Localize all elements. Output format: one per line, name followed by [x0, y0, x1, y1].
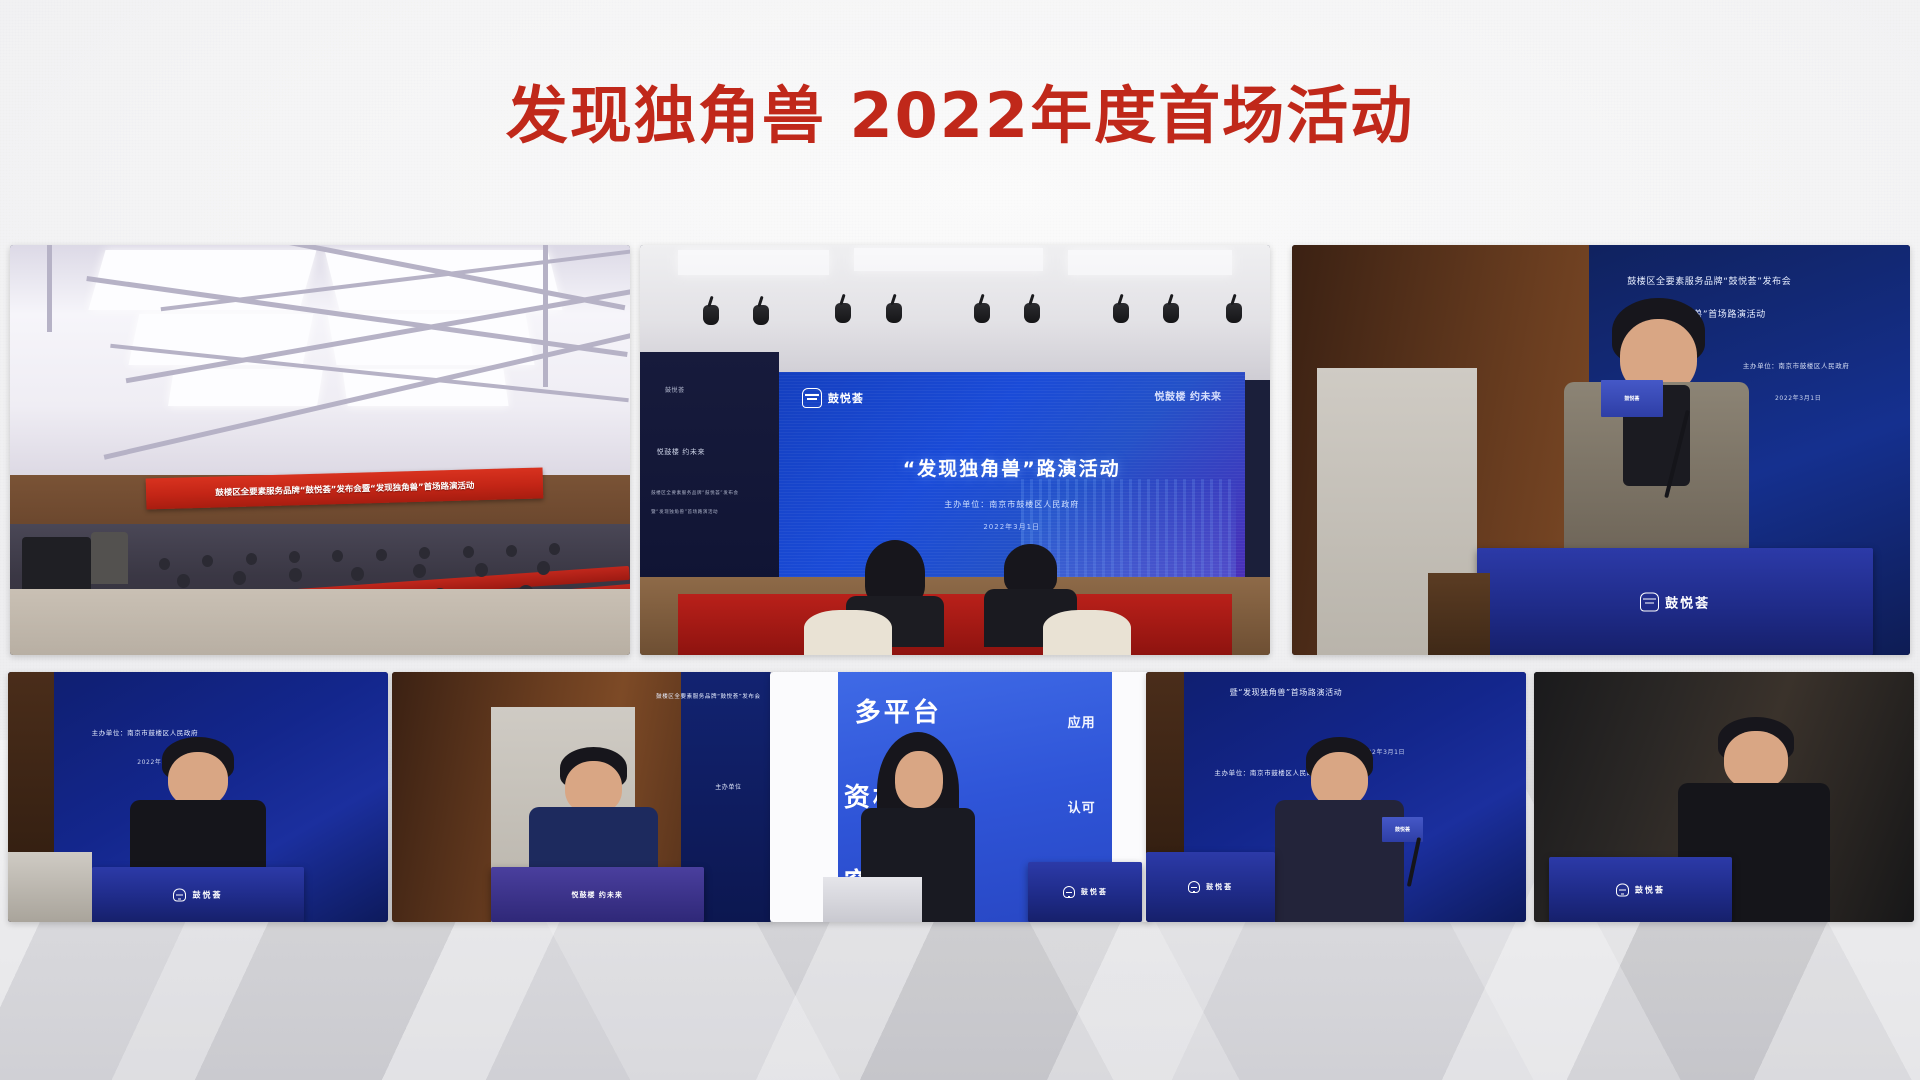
podium-label: 鼓悦荟: [1028, 886, 1142, 898]
podium: 鼓悦荟: [1028, 862, 1142, 922]
guyuehui-logo-icon: [1640, 592, 1659, 611]
podium-label: 鼓悦荟: [1549, 883, 1731, 896]
mic-flag-logo: 鼓悦荟: [1601, 380, 1663, 417]
podium-brand-name: 鼓悦荟: [192, 889, 222, 900]
photo-stage-led-screen[interactable]: 鼓悦荟 悦鼓楼 约未来 鼓楼区全要素服务品牌“鼓悦荟”发布会 暨“发现独角兽”首…: [640, 245, 1270, 655]
guyuehui-logo-icon: [1616, 883, 1629, 896]
backdrop-date: 2022年3月1日: [1775, 393, 1821, 402]
backdrop-organizer: 主办单位：南京市鼓楼区人民政府: [1743, 360, 1850, 370]
poster-page: 发现独角兽 2022年度首场活动: [0, 0, 1920, 1080]
guyuehui-logo-icon: [802, 388, 822, 408]
slide-line-2b: 认可: [1068, 797, 1096, 816]
led-slogan: 悦鼓楼 约未来: [1155, 388, 1222, 403]
backdrop-organizer: 主办单位：南京市鼓楼区人民政府: [92, 727, 199, 737]
led-brand-name: 鼓悦荟: [828, 390, 864, 406]
guyuehui-logo-icon: [1063, 886, 1075, 898]
podium-brand-name: 鼓悦荟: [1206, 882, 1233, 892]
led-brand-logo: 鼓悦荟: [802, 388, 864, 408]
led-event-title: “发现独角兽”路演活动: [779, 454, 1245, 481]
slide-line-1b: 应用: [1068, 712, 1096, 731]
stage-side-panel: 鼓悦荟 悦鼓楼 约未来 鼓楼区全要素服务品牌“鼓悦荟”发布会 暨“发现独角兽”首…: [640, 352, 779, 590]
podium: 鼓悦荟: [1146, 852, 1275, 922]
backdrop-line-1: 暨“发现独角兽”首场路演活动: [1230, 687, 1343, 698]
hall-banner-text: 鼓楼区全要素服务品牌“鼓悦荟”发布会暨“发现独角兽”首场路演活动: [215, 478, 474, 497]
stage-red-desk: [678, 594, 1232, 656]
guyuehui-logo-icon: [1188, 881, 1200, 893]
photo-speaker-4[interactable]: 暨“发现独角兽”首场路演活动 主办单位：南京市鼓楼区人民政府 2022年3月1日…: [1146, 672, 1526, 922]
photo-speaker-2[interactable]: 鼓楼区全要素服务品牌“鼓悦荟”发布会 主办单位 悦鼓楼 约未来: [392, 672, 772, 922]
podium-label: 鼓悦荟: [92, 888, 305, 901]
backdrop-line-1: 鼓楼区全要素服务品牌“鼓悦荟”发布会: [1627, 274, 1791, 287]
guyuehui-logo-icon: [173, 888, 186, 901]
podium-brand-name: 鼓悦荟: [1665, 592, 1710, 611]
led-date: 2022年3月1日: [779, 522, 1245, 532]
podium-label: 悦鼓楼 约未来: [491, 890, 704, 900]
photo-speaker-5[interactable]: 鼓悦荟: [1534, 672, 1914, 922]
photo-gallery: 鼓楼区全要素服务品牌“鼓悦荟”发布会暨“发现独角兽”首场路演活动: [0, 0, 1920, 1080]
photo-speaker-3[interactable]: 多平台 应用 资机构 认可 究院上 入股 鼓悦荟: [770, 672, 1150, 922]
podium-brand-name: 鼓悦荟: [1635, 884, 1665, 895]
podium-label: 鼓悦荟: [1477, 592, 1873, 611]
podium-brand-name: 鼓悦荟: [1081, 887, 1108, 897]
photo-speaker-main[interactable]: 鼓楼区全要素服务品牌“鼓悦荟”发布会 暨“发现独角兽”首场路演活动 主办单位：南…: [1292, 245, 1910, 655]
led-organizer: 主办单位：南京市鼓楼区人民政府: [779, 499, 1245, 510]
page-title: 发现独角兽 2022年度首场活动: [506, 82, 1414, 150]
backdrop-organizer: 主办单位: [715, 782, 741, 791]
podium: 鼓悦荟: [1477, 548, 1873, 655]
podium: 鼓悦荟: [92, 867, 305, 922]
backdrop-caption: 鼓楼区全要素服务品牌“鼓悦荟”发布会: [656, 692, 761, 700]
photo-speaker-1[interactable]: 主办单位：南京市鼓楼区人民政府 2022年3月1日 鼓悦荟: [8, 672, 388, 922]
podium: 鼓悦荟: [1549, 857, 1731, 922]
podium-label: 鼓悦荟: [1146, 881, 1275, 893]
photo-conference-hall[interactable]: 鼓楼区全要素服务品牌“鼓悦荟”发布会暨“发现独角兽”首场路演活动: [10, 245, 630, 655]
podium: 悦鼓楼 约未来: [491, 867, 704, 922]
slide-line-1: 多平台: [855, 692, 942, 729]
speaker-person: [1564, 298, 1749, 552]
hall-ceiling: [10, 245, 630, 475]
hall-floor: [10, 589, 630, 655]
page-title-container: 发现独角兽 2022年度首场活动: [0, 82, 1920, 150]
